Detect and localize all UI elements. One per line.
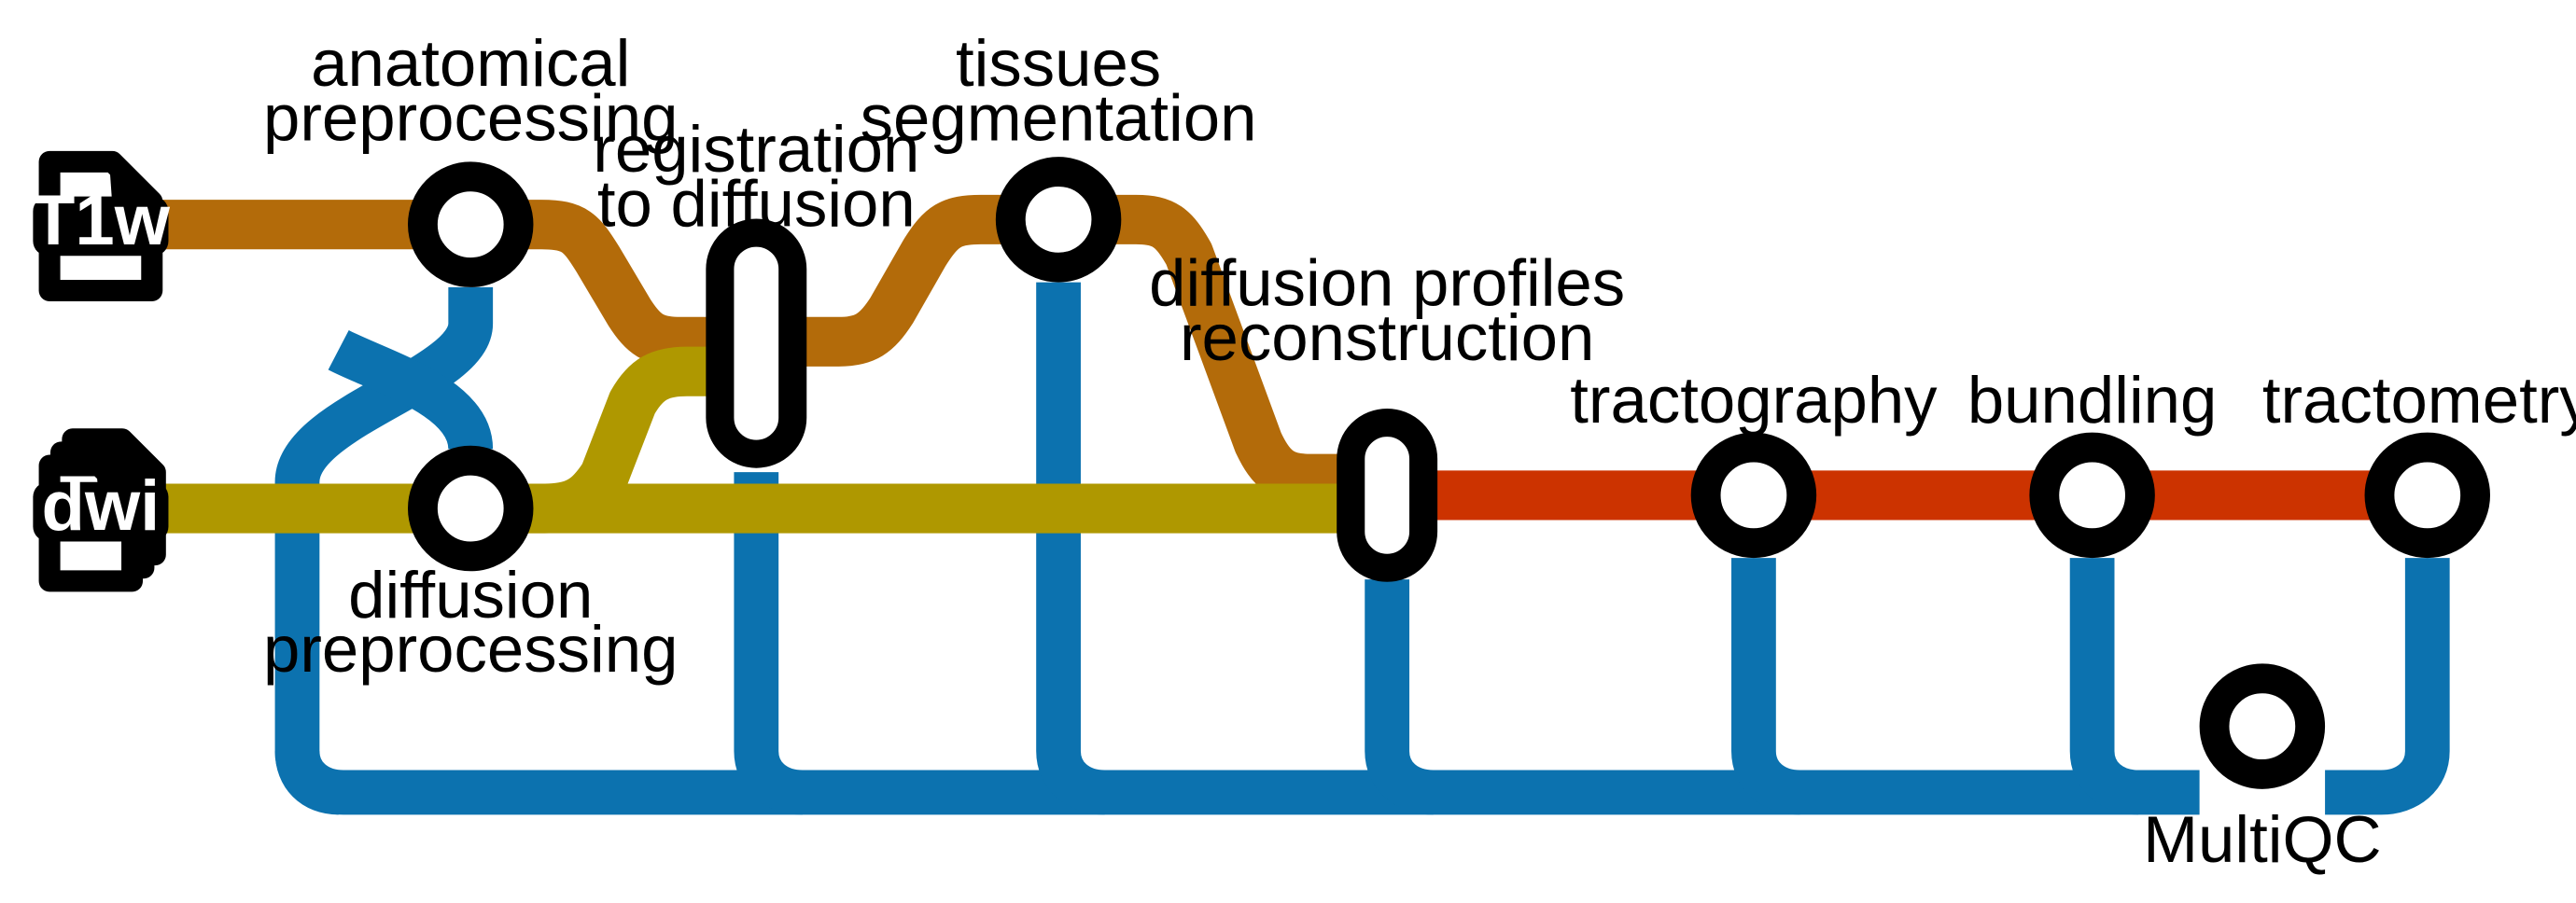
node-tractometry[interactable] xyxy=(2379,448,2475,544)
input-dwi-icon[interactable]: dwi xyxy=(33,439,168,581)
label-tractography: tractography xyxy=(1570,363,1938,437)
label-registration-to-diffusion-line2: to diffusion xyxy=(597,166,916,240)
label-diffusion-profiles-reconstruction-line2: reconstruction xyxy=(1180,300,1594,374)
edge-tissues-to-qc xyxy=(1058,283,1105,793)
node-diffusion-profiles-reconstruction[interactable] xyxy=(1351,423,1423,568)
node-anatomical-preprocessing[interactable] xyxy=(423,176,519,272)
node-registration-to-diffusion[interactable] xyxy=(720,233,792,454)
node-bundling[interactable] xyxy=(2044,448,2140,544)
node-tractography[interactable] xyxy=(1706,448,1802,544)
node-tissues-segmentation[interactable] xyxy=(1011,172,1107,268)
edge-tractography-to-qc xyxy=(1754,558,1800,792)
input-t1w-icon[interactable]: T1w xyxy=(32,159,171,291)
pipeline-canvas: anatomical preprocessing registration to… xyxy=(0,0,2576,903)
edge-qc-bottom-bus xyxy=(297,751,2199,792)
label-bundling: bundling xyxy=(1967,363,2218,437)
edge-tractometry-to-qc xyxy=(2325,558,2428,792)
file-tag-label-t1w: T1w xyxy=(32,181,171,260)
label-multiqc: MultiQC xyxy=(2143,802,2382,876)
label-tissues-segmentation-line2: segmentation xyxy=(861,80,1257,154)
edge-reconstruction-to-qc xyxy=(1387,579,1434,792)
label-diffusion-preprocessing-line2: preprocessing xyxy=(263,612,678,686)
node-diffusion-preprocessing[interactable] xyxy=(423,461,519,557)
file-tag-label-dwi: dwi xyxy=(42,466,161,546)
label-tractometry: tractometry xyxy=(2262,363,2576,437)
node-multiqc[interactable] xyxy=(2215,678,2311,774)
edge-bundling-to-qc xyxy=(2093,558,2139,792)
pipeline-diagram: anatomical preprocessing registration to… xyxy=(0,0,2576,903)
